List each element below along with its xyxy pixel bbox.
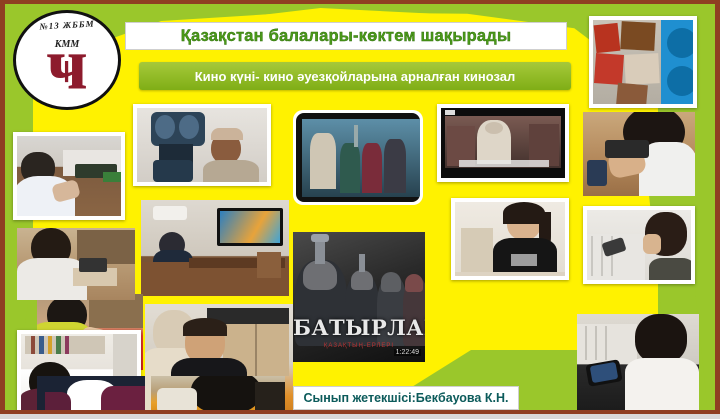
photo-girl-black-shirt xyxy=(451,198,569,280)
photo-film-camera-operator xyxy=(133,104,271,186)
photo-girl-white-shirt-phone xyxy=(577,314,699,410)
photo-classroom-tv xyxy=(141,200,289,296)
photo-boy-tablet-desk xyxy=(13,132,125,220)
logo-ornament-icon: ҹ xyxy=(46,34,88,93)
poster-footer-banner: Сынып жетекшісі:Бекбауова К.Н. xyxy=(293,386,519,410)
poster-title-banner: Қазақстан балалары-көктем шақырады xyxy=(125,22,567,50)
movie-poster-timestamp: 1:22:49 xyxy=(394,349,421,356)
poster-footer-text: Сынып жетекшісі:Бекбауова К.Н. xyxy=(304,391,509,405)
movie-poster-batyrlar: БАТЫРЛАР ҚАЗАҚТЫҢ-ЕРЛЕРІ 1:22:49 xyxy=(293,232,425,362)
poster-title: Қазақстан балалары-көктем шақырады xyxy=(181,27,512,46)
poster-root: №13 ЖББМ КММ ҹ Қазақстан балалары-көктем… xyxy=(0,0,720,419)
photo-boy-dark-room xyxy=(37,376,145,410)
poster-subtitle-banner: Кино күні- кино әуезқойларына арналған к… xyxy=(139,62,571,90)
poster-subtitle: Кино күні- кино әуезқойларына арналған к… xyxy=(195,69,516,84)
photo-tv-movie-scene xyxy=(293,110,423,205)
school-logo: №13 ЖББМ КММ ҹ xyxy=(13,10,121,110)
photo-boy-sleeping-desk xyxy=(151,376,285,410)
photo-laptop-film-elder xyxy=(437,104,569,182)
movie-poster-title: БАТЫРЛАР xyxy=(293,315,425,340)
photo-girl-phone-white xyxy=(583,206,695,284)
photo-film-stills-camera xyxy=(589,16,697,108)
photo-girl-notebook xyxy=(17,228,135,300)
poster-canvas: №13 ЖББМ КММ ҹ Қазақстан балалары-көктем… xyxy=(5,4,715,410)
photo-boy-phone-bed xyxy=(583,112,695,196)
bottom-strip xyxy=(0,414,720,419)
